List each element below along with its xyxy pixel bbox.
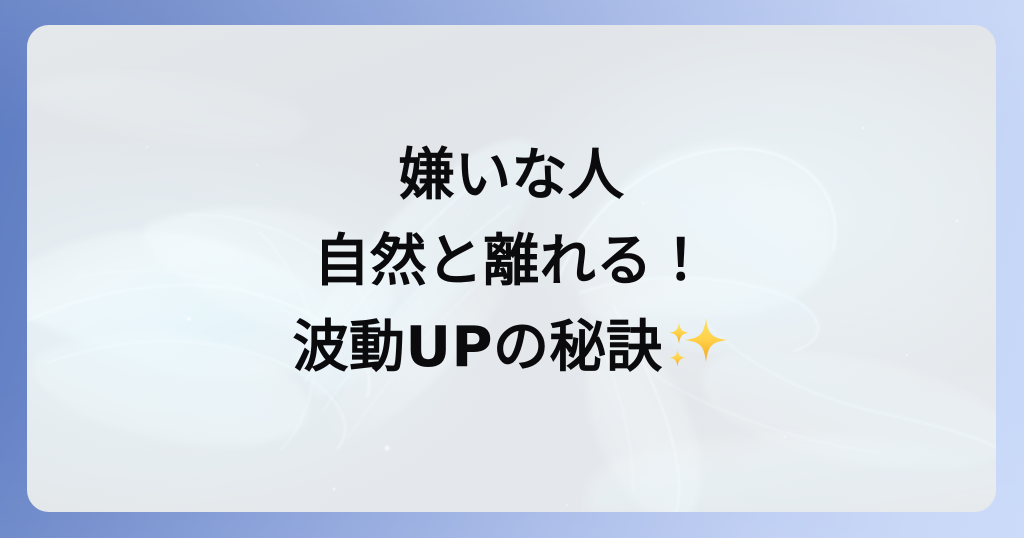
headline-line-3: 波動UPの秘訣: [292, 315, 662, 380]
content-card: 嫌いな人 自然と離れる！ 波動UPの秘訣: [27, 25, 996, 512]
headline-line-3-wrapper: 波動UPの秘訣: [27, 305, 996, 391]
sparkles-emoji-icon: [665, 316, 731, 378]
headline-line-1: 嫌いな人: [27, 133, 996, 219]
headline-line-2: 自然と離れる！: [27, 219, 996, 305]
banner-canvas: 嫌いな人 自然と離れる！ 波動UPの秘訣: [0, 0, 1024, 538]
headline-text-block: 嫌いな人 自然と離れる！ 波動UPの秘訣: [27, 133, 996, 391]
